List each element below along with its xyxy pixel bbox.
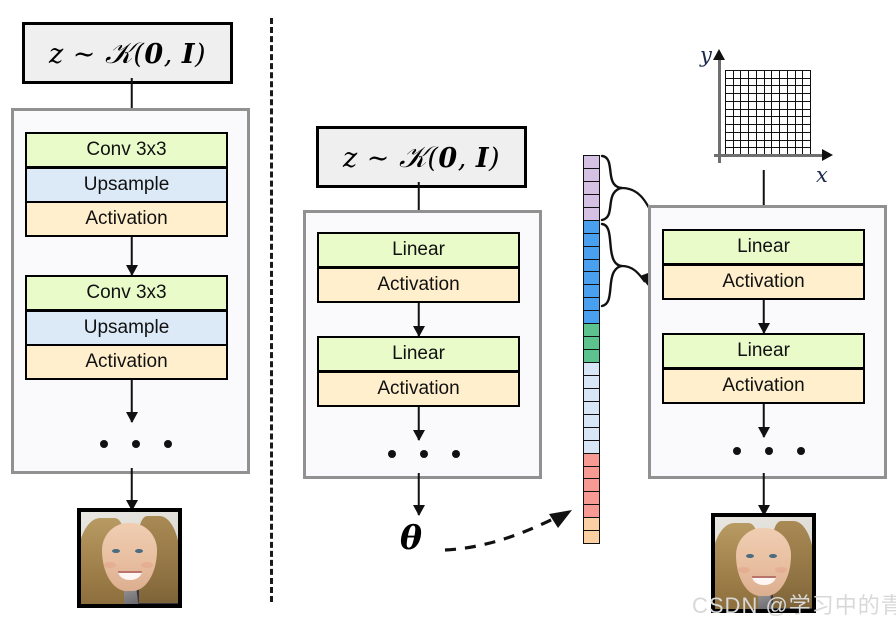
layer-linear-r2: Linear	[664, 335, 863, 367]
grid-cell	[772, 110, 779, 117]
strip-cell-light-blue-group	[584, 415, 599, 428]
grid-cell	[772, 102, 779, 109]
grid-cell	[803, 94, 810, 101]
strip-cell-purple-group	[584, 182, 599, 195]
latent-formula-middle: z ∼ 𝒦(0, I)	[343, 140, 500, 175]
x-axis-label: x	[816, 163, 828, 187]
grid-cell	[796, 117, 803, 124]
grid-cell	[765, 110, 772, 117]
layer-activation-r1: Activation	[664, 266, 863, 298]
strip-cell-light-blue-group	[584, 376, 599, 389]
strip-cell-blue-group	[584, 247, 599, 260]
grid-cell	[726, 133, 733, 140]
right-network-ellipsis	[733, 447, 805, 455]
grid-cell	[757, 110, 764, 117]
grid-cell	[780, 94, 787, 101]
grid-cell	[780, 110, 787, 117]
grid-cell	[726, 71, 733, 78]
left-network-ellipsis	[100, 440, 172, 448]
grid-cell	[765, 133, 772, 140]
grid-cell	[741, 94, 748, 101]
strip-cell-salmon-group	[584, 492, 599, 505]
grid-cell	[734, 125, 741, 132]
grid-cell	[749, 141, 756, 148]
grid-cell	[780, 125, 787, 132]
grid-cell	[803, 133, 810, 140]
grid-cell	[780, 86, 787, 93]
strip-cell-light-blue-group	[584, 402, 599, 415]
y-axis-label: y	[700, 43, 712, 67]
grid-cell	[741, 86, 748, 93]
grid-cell	[757, 117, 764, 124]
grid-cell	[757, 94, 764, 101]
strip-cell-light-blue-group	[584, 389, 599, 402]
grid-cell	[788, 86, 795, 93]
left-block-2: Conv 3x3 Upsample Activation	[25, 275, 228, 380]
grid-cell	[803, 117, 810, 124]
layer-conv-2: Conv 3x3	[27, 277, 226, 309]
right-block-1: Linear Activation	[662, 229, 865, 300]
grid-cell	[734, 117, 741, 124]
grid-cell	[757, 102, 764, 109]
strip-cell-purple-group	[584, 208, 599, 221]
strip-cell-blue-group	[584, 260, 599, 273]
grid-cell	[749, 79, 756, 86]
grid-cell	[741, 110, 748, 117]
strip-cell-green-group	[584, 324, 599, 337]
left-output-image	[77, 508, 182, 608]
grid-cell	[803, 125, 810, 132]
grid-cell	[726, 102, 733, 109]
grid-cell	[796, 125, 803, 132]
x-axis	[714, 154, 824, 157]
grid-cell	[788, 102, 795, 109]
layer-activation-m2: Activation	[319, 373, 518, 405]
grid-cell	[757, 133, 764, 140]
grid-cell	[796, 79, 803, 86]
strip-cell-green-group	[584, 337, 599, 350]
layer-activation-1: Activation	[27, 203, 226, 235]
layer-linear-r1: Linear	[664, 231, 863, 263]
grid-cell	[726, 110, 733, 117]
grid-cell	[757, 79, 764, 86]
grid-cell	[788, 79, 795, 86]
grid-cell	[757, 71, 764, 78]
layer-activation-2: Activation	[27, 346, 226, 378]
grid-cell	[726, 94, 733, 101]
grid-cell	[734, 141, 741, 148]
grid-cell	[772, 125, 779, 132]
grid-cell	[772, 86, 779, 93]
grid-cell	[734, 86, 741, 93]
y-axis-arrowhead	[713, 49, 725, 60]
strip-cell-blue-group	[584, 285, 599, 298]
grid-cell	[796, 110, 803, 117]
strip-cell-salmon-group	[584, 505, 599, 518]
grid-cell	[765, 117, 772, 124]
grid-cell	[734, 79, 741, 86]
grid-cell	[749, 71, 756, 78]
grid-cell	[765, 86, 772, 93]
csdn-watermark: CSDN @学习中的青年	[692, 588, 896, 620]
grid-cell	[726, 79, 733, 86]
coordinate-grid-plot: y x	[700, 35, 880, 175]
arrow-left-block1-to-block2	[125, 237, 138, 275]
middle-network-ellipsis	[388, 450, 460, 458]
grid-cell	[734, 133, 741, 140]
grid-cell	[749, 86, 756, 93]
grid-cell	[803, 79, 810, 86]
grid-cell	[757, 125, 764, 132]
grid-cell	[780, 102, 787, 109]
grid-cell	[734, 94, 741, 101]
latent-box-middle: z ∼ 𝒦(0, I)	[316, 126, 527, 188]
arrow-middle-network-to-theta	[412, 473, 425, 515]
strip-cell-blue-group	[584, 298, 599, 311]
strip-cell-peach-group	[584, 531, 599, 543]
strip-cell-blue-group	[584, 272, 599, 285]
grid-cell	[788, 133, 795, 140]
layer-linear-m2: Linear	[319, 338, 518, 370]
strip-cell-purple-group	[584, 169, 599, 182]
grid-cell	[734, 102, 741, 109]
grid-cell	[796, 102, 803, 109]
grid-cell	[765, 141, 772, 148]
middle-block-1: Linear Activation	[317, 232, 520, 303]
grid-cell	[772, 71, 779, 78]
layer-activation-r2: Activation	[664, 370, 863, 402]
strip-cell-purple-group	[584, 195, 599, 208]
grid-cell	[765, 79, 772, 86]
left-block-1: Conv 3x3 Upsample Activation	[25, 132, 228, 237]
grid-cell	[741, 117, 748, 124]
grid-cell	[749, 94, 756, 101]
layer-upsample-1: Upsample	[27, 169, 226, 201]
strip-cell-blue-group	[584, 234, 599, 247]
grid-cell	[741, 102, 748, 109]
grid-cell	[772, 117, 779, 124]
grid-cell	[741, 71, 748, 78]
y-axis	[718, 57, 721, 163]
grid-cell	[772, 79, 779, 86]
panel-divider	[270, 18, 273, 602]
arrow-middle-block1-to-block2	[412, 303, 425, 336]
latent-box-left: z ∼ 𝒦(0, I)	[22, 22, 233, 84]
grid-cell	[780, 117, 787, 124]
right-block-2: Linear Activation	[662, 333, 865, 404]
theta-symbol: θ	[400, 518, 422, 557]
strip-cell-salmon-group	[584, 467, 599, 480]
strip-cell-green-group	[584, 350, 599, 363]
grid-cell	[796, 94, 803, 101]
grid-cell	[796, 86, 803, 93]
xy-grid-cells	[725, 70, 811, 156]
strip-cell-salmon-group	[584, 454, 599, 467]
strip-cell-peach-group	[584, 518, 599, 531]
grid-cell	[788, 117, 795, 124]
grid-cell	[788, 94, 795, 101]
x-axis-arrowhead	[822, 149, 833, 161]
grid-cell	[749, 110, 756, 117]
strip-cell-blue-group	[584, 221, 599, 234]
grid-cell	[749, 125, 756, 132]
layer-activation-m1: Activation	[319, 269, 518, 301]
grid-cell	[772, 94, 779, 101]
grid-cell	[780, 71, 787, 78]
grid-cell	[726, 141, 733, 148]
layer-upsample-2: Upsample	[27, 312, 226, 344]
grid-cell	[803, 86, 810, 93]
grid-cell	[765, 125, 772, 132]
arrow-middle-block2-to-ellipsis	[412, 407, 425, 440]
grid-cell	[772, 133, 779, 140]
arrow-left-block2-to-ellipsis	[125, 380, 138, 422]
grid-cell	[796, 71, 803, 78]
grid-cell	[749, 117, 756, 124]
grid-cell	[765, 94, 772, 101]
layer-linear-m1: Linear	[319, 234, 518, 266]
layer-conv-1: Conv 3x3	[27, 134, 226, 166]
diagram-canvas: z ∼ 𝒦(0, I) Conv 3x3 Upsample Activation…	[0, 0, 896, 621]
grid-cell	[780, 79, 787, 86]
grid-cell	[788, 110, 795, 117]
grid-cell	[726, 117, 733, 124]
grid-cell	[780, 141, 787, 148]
latent-formula-left: z ∼ 𝒦(0, I)	[49, 36, 206, 71]
grid-cell	[803, 110, 810, 117]
grid-cell	[734, 110, 741, 117]
grid-cell	[749, 133, 756, 140]
arrow-left-network-to-output	[125, 468, 138, 510]
arrow-right-block2-to-ellipsis	[757, 404, 770, 437]
grid-cell	[765, 102, 772, 109]
grid-cell	[765, 71, 772, 78]
grid-cell	[796, 141, 803, 148]
grid-cell	[788, 71, 795, 78]
middle-block-2: Linear Activation	[317, 336, 520, 407]
grid-cell	[749, 102, 756, 109]
grid-cell	[734, 71, 741, 78]
theta-to-strip-arrow	[440, 495, 590, 565]
grid-cell	[780, 133, 787, 140]
grid-cell	[803, 71, 810, 78]
strip-cell-purple-group	[584, 156, 599, 169]
grid-cell	[757, 141, 764, 148]
grid-cell	[741, 79, 748, 86]
grid-cell	[788, 141, 795, 148]
grid-cell	[803, 141, 810, 148]
grid-cell	[772, 141, 779, 148]
strip-cell-blue-group	[584, 311, 599, 324]
strip-cell-light-blue-group	[584, 428, 599, 441]
grid-cell	[726, 86, 733, 93]
grid-cell	[741, 141, 748, 148]
grid-cell	[741, 125, 748, 132]
strip-cell-light-blue-group	[584, 363, 599, 376]
grid-cell	[757, 86, 764, 93]
strip-cell-salmon-group	[584, 479, 599, 492]
grid-cell	[726, 125, 733, 132]
grid-cell	[796, 133, 803, 140]
strip-cell-light-blue-group	[584, 441, 599, 454]
grid-cell	[788, 125, 795, 132]
grid-cell	[741, 133, 748, 140]
grid-cell	[803, 102, 810, 109]
arrow-right-block1-to-block2	[757, 300, 770, 333]
arrow-right-network-to-output	[757, 473, 770, 515]
